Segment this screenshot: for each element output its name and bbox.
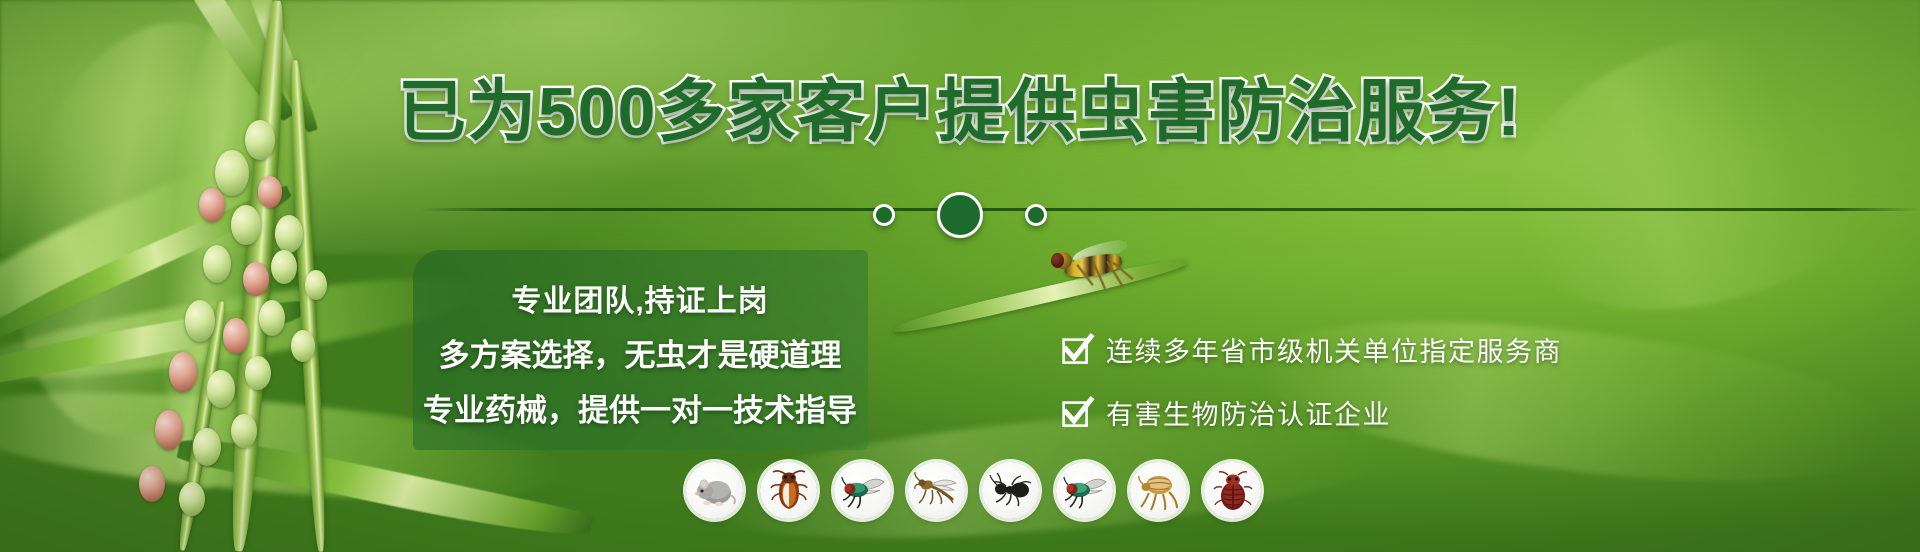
pest-icon-row: 鼠 蟑螂 bbox=[686, 462, 1261, 519]
claim-line-3: 专业药械，提供一对一技术指导 bbox=[423, 385, 857, 430]
cockroach-icon[interactable]: 蟑螂 bbox=[760, 462, 817, 519]
credential-list: 连续多年省市级机关单位指定服务商 有害生物防治认证企业 bbox=[1062, 330, 1562, 432]
list-item-label: 连续多年省市级机关单位指定服务商 bbox=[1106, 330, 1562, 369]
list-item-label: 有害生物防治认证企业 bbox=[1106, 393, 1391, 432]
bedbug-icon[interactable]: 臭虫 bbox=[1204, 462, 1261, 519]
dot-small-left bbox=[873, 204, 895, 226]
claim-line-1: 专业团队,持证上岗 bbox=[511, 276, 768, 320]
dot-small-right bbox=[1025, 204, 1047, 226]
claims-panel-text: 专业团队,持证上岗 多方案选择，无虫才是硬道理 专业药械，提供一对一技术指导 bbox=[400, 258, 880, 448]
fly-icon[interactable]: 蝇 bbox=[834, 462, 891, 519]
check-box-icon bbox=[1062, 335, 1092, 365]
page-title: 已为500多家客户提供虫害防治服务! bbox=[0, 78, 1920, 146]
decor-dots bbox=[0, 192, 1920, 238]
rodent-icon[interactable]: 鼠 bbox=[686, 462, 743, 519]
hoverfly-on-stem bbox=[1020, 240, 1180, 320]
dot-large-center bbox=[937, 192, 983, 238]
claim-line-2: 多方案选择，无虫才是硬道理 bbox=[439, 330, 842, 375]
promo-banner: 已为500多家客户提供虫害防治服务! 专业团队,持证上岗 多方案选择，无虫才是硬… bbox=[0, 0, 1920, 552]
blowfly-icon[interactable]: 绿头蝇 bbox=[1056, 462, 1113, 519]
mosquito-icon[interactable]: 蚊 bbox=[908, 462, 965, 519]
ant-icon[interactable]: 蚂蚁 bbox=[982, 462, 1039, 519]
list-item: 有害生物防治认证企业 bbox=[1062, 393, 1562, 432]
flea-icon[interactable]: 跳蚤 bbox=[1130, 462, 1187, 519]
list-item: 连续多年省市级机关单位指定服务商 bbox=[1062, 330, 1562, 369]
check-box-icon bbox=[1062, 398, 1092, 428]
